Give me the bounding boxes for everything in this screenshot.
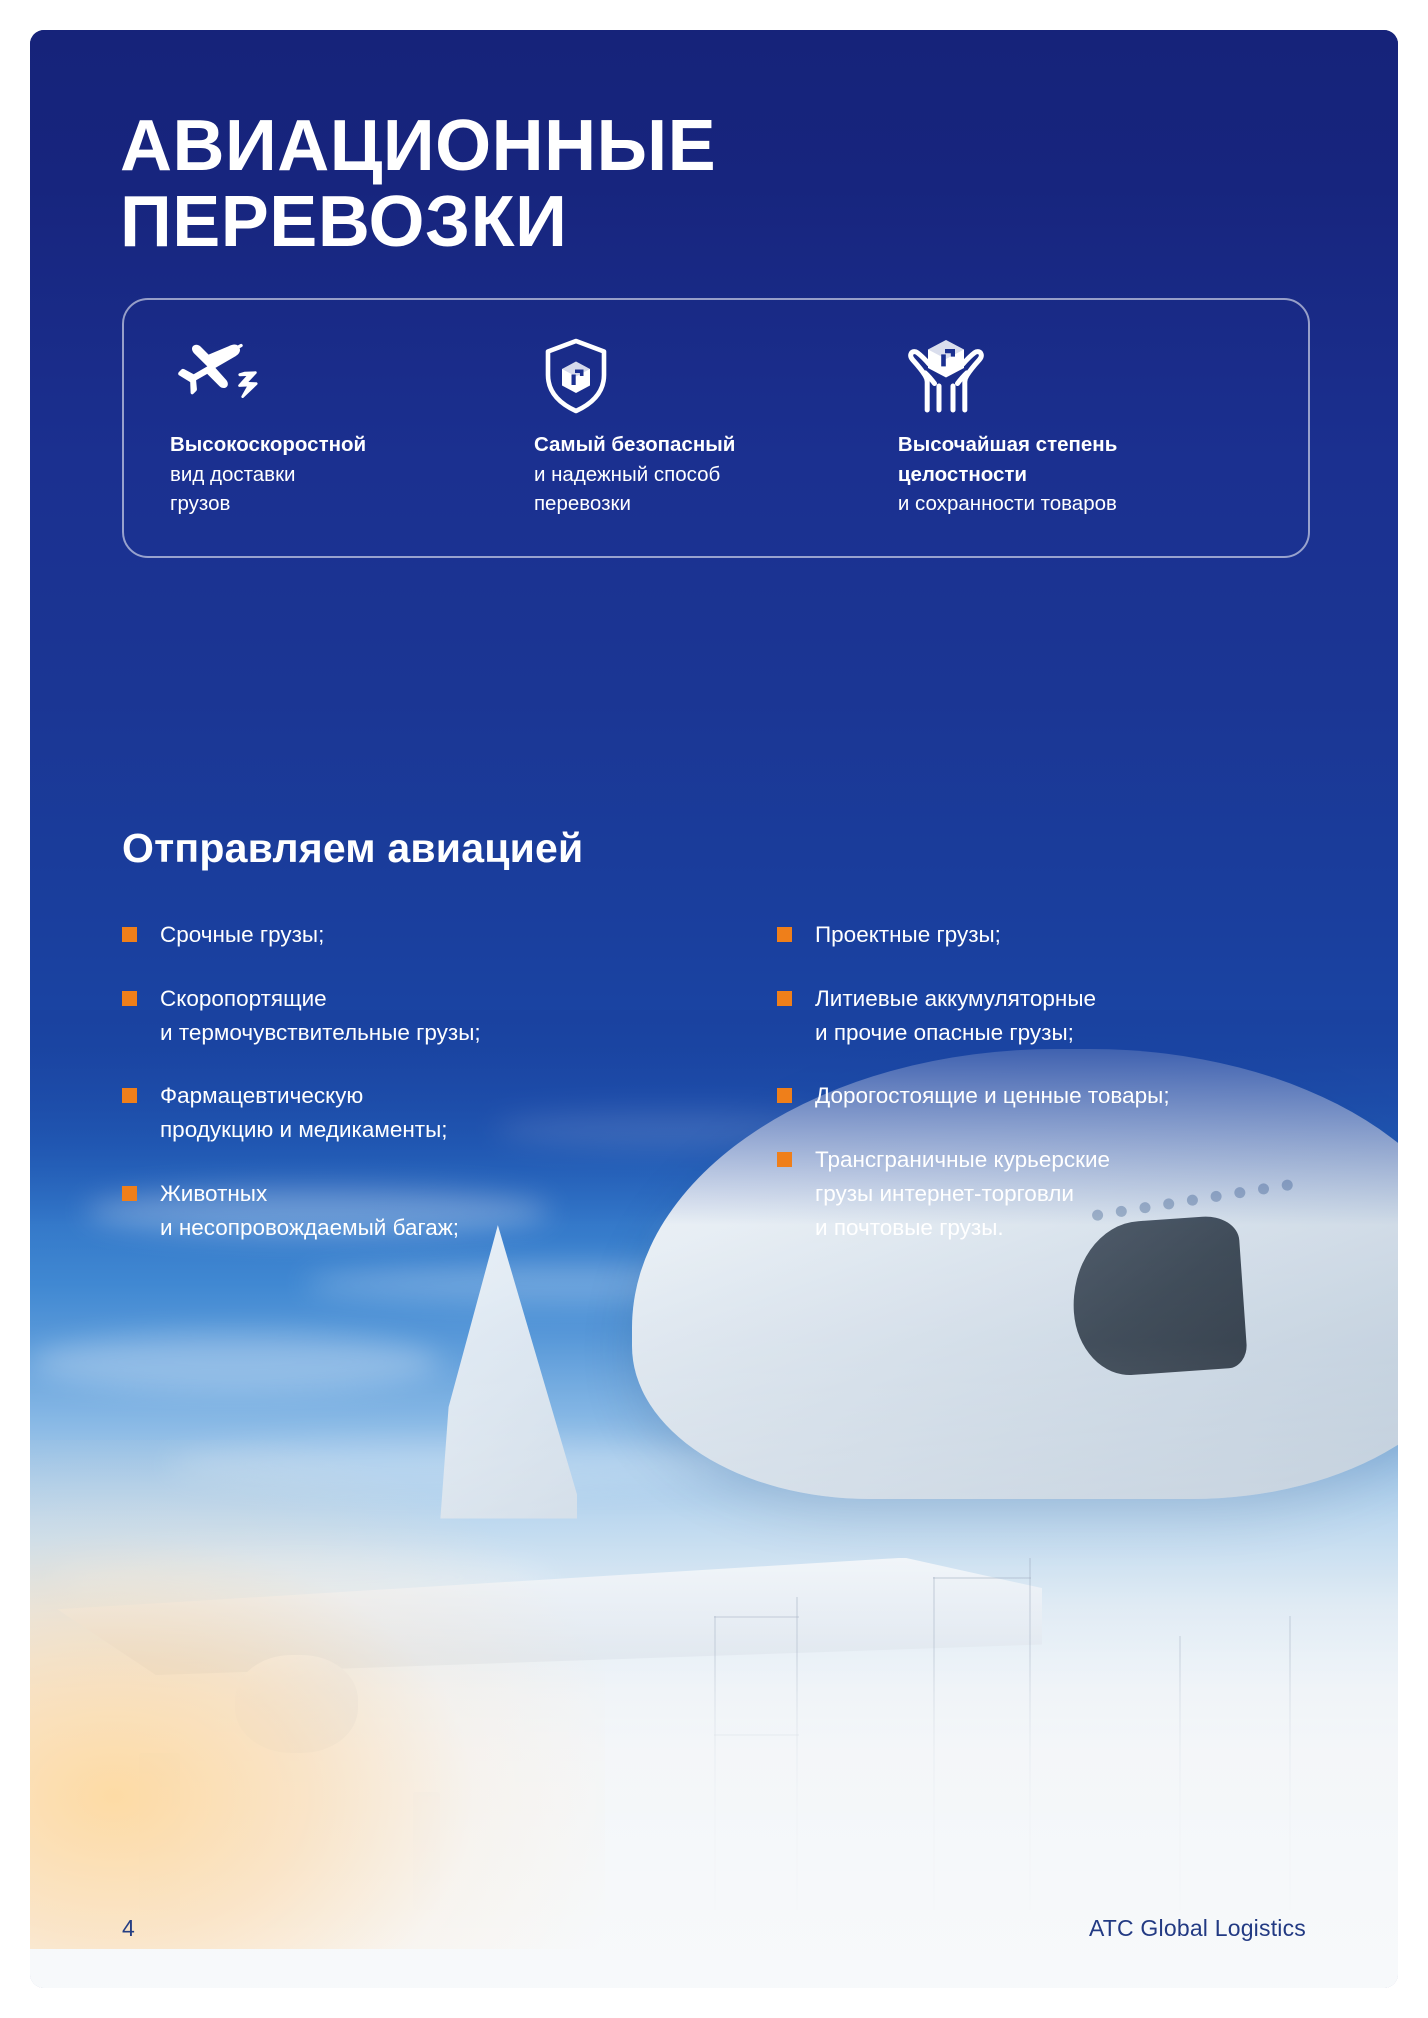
page-number: 4 xyxy=(122,1915,135,1942)
feature-item-speed: Высокоскоростной вид доставки грузов xyxy=(170,334,534,526)
list-item-label: Срочные грузы; xyxy=(160,918,324,952)
cargo-list-left: Срочные грузы; Скоропортящие и термочувс… xyxy=(122,918,717,1274)
list-item-label: Фармацевтическую продукцию и медикаменты… xyxy=(160,1079,448,1147)
feature-strong-2: целостности xyxy=(898,463,1027,486)
feature-strong: Высокоскоростной xyxy=(170,433,366,456)
feature-item-integrity: Высочайшая степень целостности и сохранн… xyxy=(898,334,1262,526)
list-item-label: Литиевые аккумуляторные и прочие опасные… xyxy=(815,982,1096,1050)
list-item-label: Дорогостоящие и ценные товары; xyxy=(815,1079,1170,1113)
list-item-label: Проектные грузы; xyxy=(815,918,1001,952)
cargo-list-right: Проектные грузы; Литиевые аккумуляторные… xyxy=(717,918,1312,1274)
list-item: Литиевые аккумуляторные и прочие опасные… xyxy=(777,982,1312,1050)
bullet-square-icon xyxy=(122,1186,137,1201)
section-heading: Отправляем авиацией xyxy=(122,825,583,872)
feature-text: Самый безопасный и надежный способ перев… xyxy=(534,430,872,519)
feature-text: Высочайшая степень целостности и сохранн… xyxy=(898,430,1236,519)
page-title-line-2: ПЕРЕВОЗКИ xyxy=(120,184,1020,260)
bullet-square-icon xyxy=(122,927,137,942)
feature-rest: вид доставки грузов xyxy=(170,463,295,516)
list-item: Дорогостоящие и ценные товары; xyxy=(777,1079,1312,1113)
page-sheet: АВИАЦИОННЫЕ ПЕРЕВОЗКИ Высокоскоростной в… xyxy=(30,30,1398,1988)
feature-strong: Самый безопасный xyxy=(534,433,735,456)
airplane-bolt-icon xyxy=(170,334,508,420)
feature-strong: Высочайшая степень xyxy=(898,433,1117,456)
list-item: Срочные грузы; xyxy=(122,918,717,952)
bullet-square-icon xyxy=(122,1088,137,1103)
bullet-square-icon xyxy=(777,927,792,942)
list-item-label: Трансграничные курьерские грузы интернет… xyxy=(815,1143,1110,1244)
list-item: Животных и несопровождаемый багаж; xyxy=(122,1177,717,1245)
list-item: Проектные грузы; xyxy=(777,918,1312,952)
cargo-type-lists: Срочные грузы; Скоропортящие и термочувс… xyxy=(122,918,1312,1274)
list-item: Скоропортящие и термочувствительные груз… xyxy=(122,982,717,1050)
hands-holding-box-icon xyxy=(898,334,1236,420)
list-item: Трансграничные курьерские грузы интернет… xyxy=(777,1143,1312,1244)
page-content: АВИАЦИОННЫЕ ПЕРЕВОЗКИ Высокоскоростной в… xyxy=(30,30,1398,1988)
page-title-line-1: АВИАЦИОННЫЕ xyxy=(120,106,716,186)
list-item-label: Животных и несопровождаемый багаж; xyxy=(160,1177,459,1245)
bullet-square-icon xyxy=(122,991,137,1006)
list-item: Фармацевтическую продукцию и медикаменты… xyxy=(122,1079,717,1147)
feature-text: Высокоскоростной вид доставки грузов xyxy=(170,430,508,519)
features-card: Высокоскоростной вид доставки грузов xyxy=(122,298,1310,558)
page-title: АВИАЦИОННЫЕ ПЕРЕВОЗКИ xyxy=(120,108,1020,261)
list-item-label: Скоропортящие и термочувствительные груз… xyxy=(160,982,481,1050)
bullet-square-icon xyxy=(777,1152,792,1167)
brochure-page: АВИАЦИОННЫЕ ПЕРЕВОЗКИ Высокоскоростной в… xyxy=(0,0,1428,2018)
shield-box-icon xyxy=(534,334,872,420)
bullet-square-icon xyxy=(777,991,792,1006)
bullet-square-icon xyxy=(777,1088,792,1103)
feature-rest: и надежный способ перевозки xyxy=(534,463,720,516)
brand-name: ATC Global Logistics xyxy=(1089,1915,1306,1942)
feature-item-safety: Самый безопасный и надежный способ перев… xyxy=(534,334,898,526)
feature-rest: и сохранности товаров xyxy=(898,492,1117,515)
